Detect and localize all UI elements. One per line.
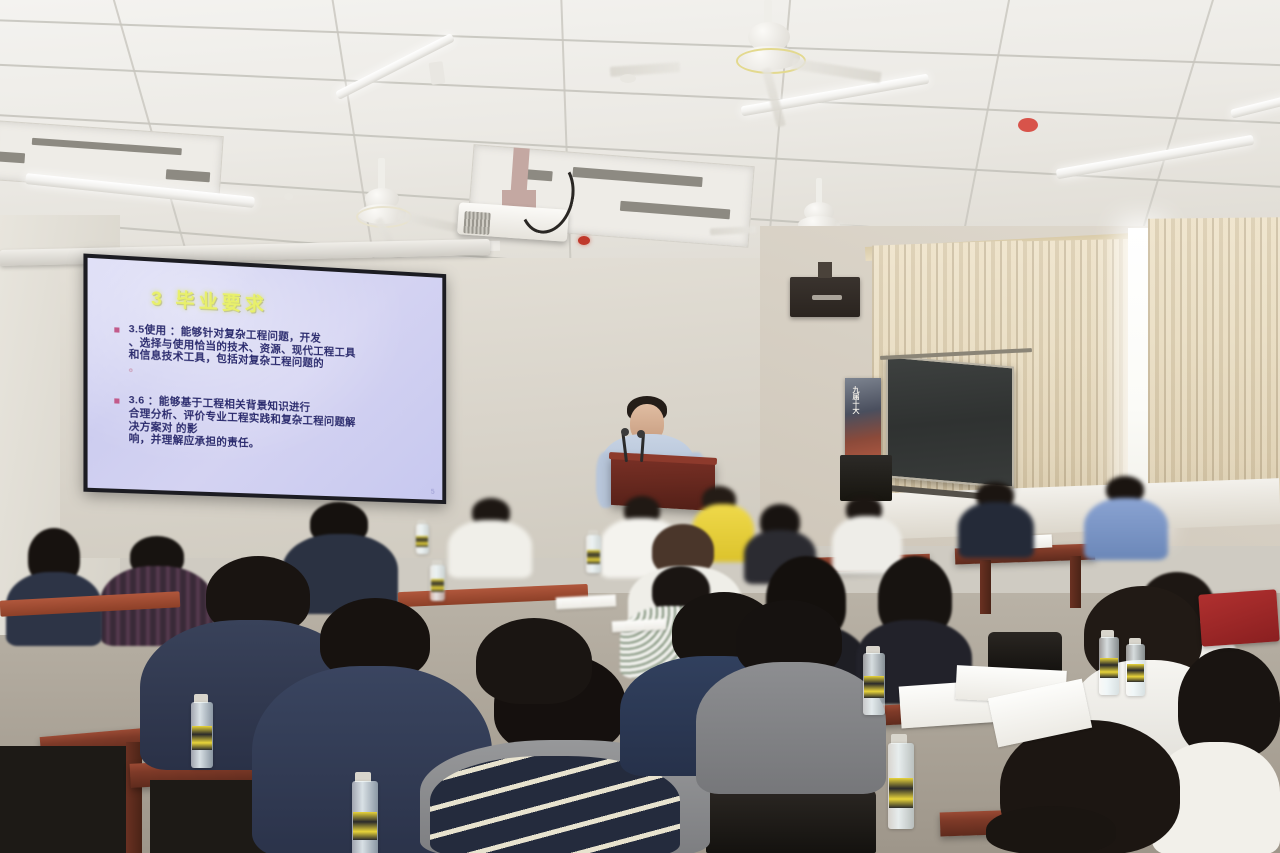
hair: [986, 806, 1116, 853]
smoke-detector: [620, 74, 636, 83]
window-curtain-right: [1148, 217, 1280, 518]
presentation-slide: 3 毕业要求 3.5使用 ：能够针对复杂工程问题，开发 、选择与使用恰当的技术、…: [88, 258, 443, 500]
light-bracket: [429, 61, 446, 85]
slide-page-number: 5: [431, 489, 435, 496]
blackboard: [886, 355, 1014, 488]
wall-mounted-speaker: [790, 277, 860, 317]
chair-back: [988, 632, 1062, 672]
slide-bullet-3-6: 3.6 ：能够基于工程相关背景知识进行 合理分析、评价专业工程实践和复杂工程问题…: [112, 394, 430, 457]
smoke-detector: [284, 193, 293, 200]
classroom-lecture-photo: 九届十大 3 毕业要求 3.5使用 ：能够针对复杂工程问题，开发 、选择与使用恰…: [0, 0, 1280, 853]
chair-back: [706, 790, 876, 853]
projector-indicator-light: [578, 236, 590, 245]
desk-leg: [1070, 556, 1081, 608]
microphone-head-icon: [621, 428, 629, 436]
desk-leg: [980, 560, 991, 614]
bullet-marker-icon: [114, 399, 119, 404]
speaker-mount-bracket: [818, 262, 832, 278]
desk-leg: [126, 742, 142, 853]
window-curtain-mid: [1016, 239, 1146, 510]
equipment-cabinet: [840, 455, 892, 501]
slide-body: 3.5使用 ：能够针对复杂工程问题，开发 、选择与使用恰当的技术、资源、现代工程…: [112, 322, 430, 477]
slide-bullet-3-5: 3.5使用 ：能够针对复杂工程问题，开发 、选择与使用恰当的技术、资源、现代工程…: [112, 322, 430, 388]
desk-shadow-under: [0, 746, 126, 853]
wall-poster: 九届十大: [845, 378, 881, 464]
bullet-marker-icon: [114, 327, 119, 332]
microphone-head-icon: [637, 430, 645, 438]
projection-screen: 3 毕业要求 3.5使用 ：能够针对复杂工程问题，开发 、选择与使用恰当的技术、…: [83, 253, 446, 504]
slide-title: 3 毕业要求: [151, 284, 268, 317]
red-handbag: [1198, 589, 1279, 646]
smoke-detector: [1018, 118, 1038, 132]
hair: [476, 618, 592, 704]
torso: [696, 662, 886, 794]
